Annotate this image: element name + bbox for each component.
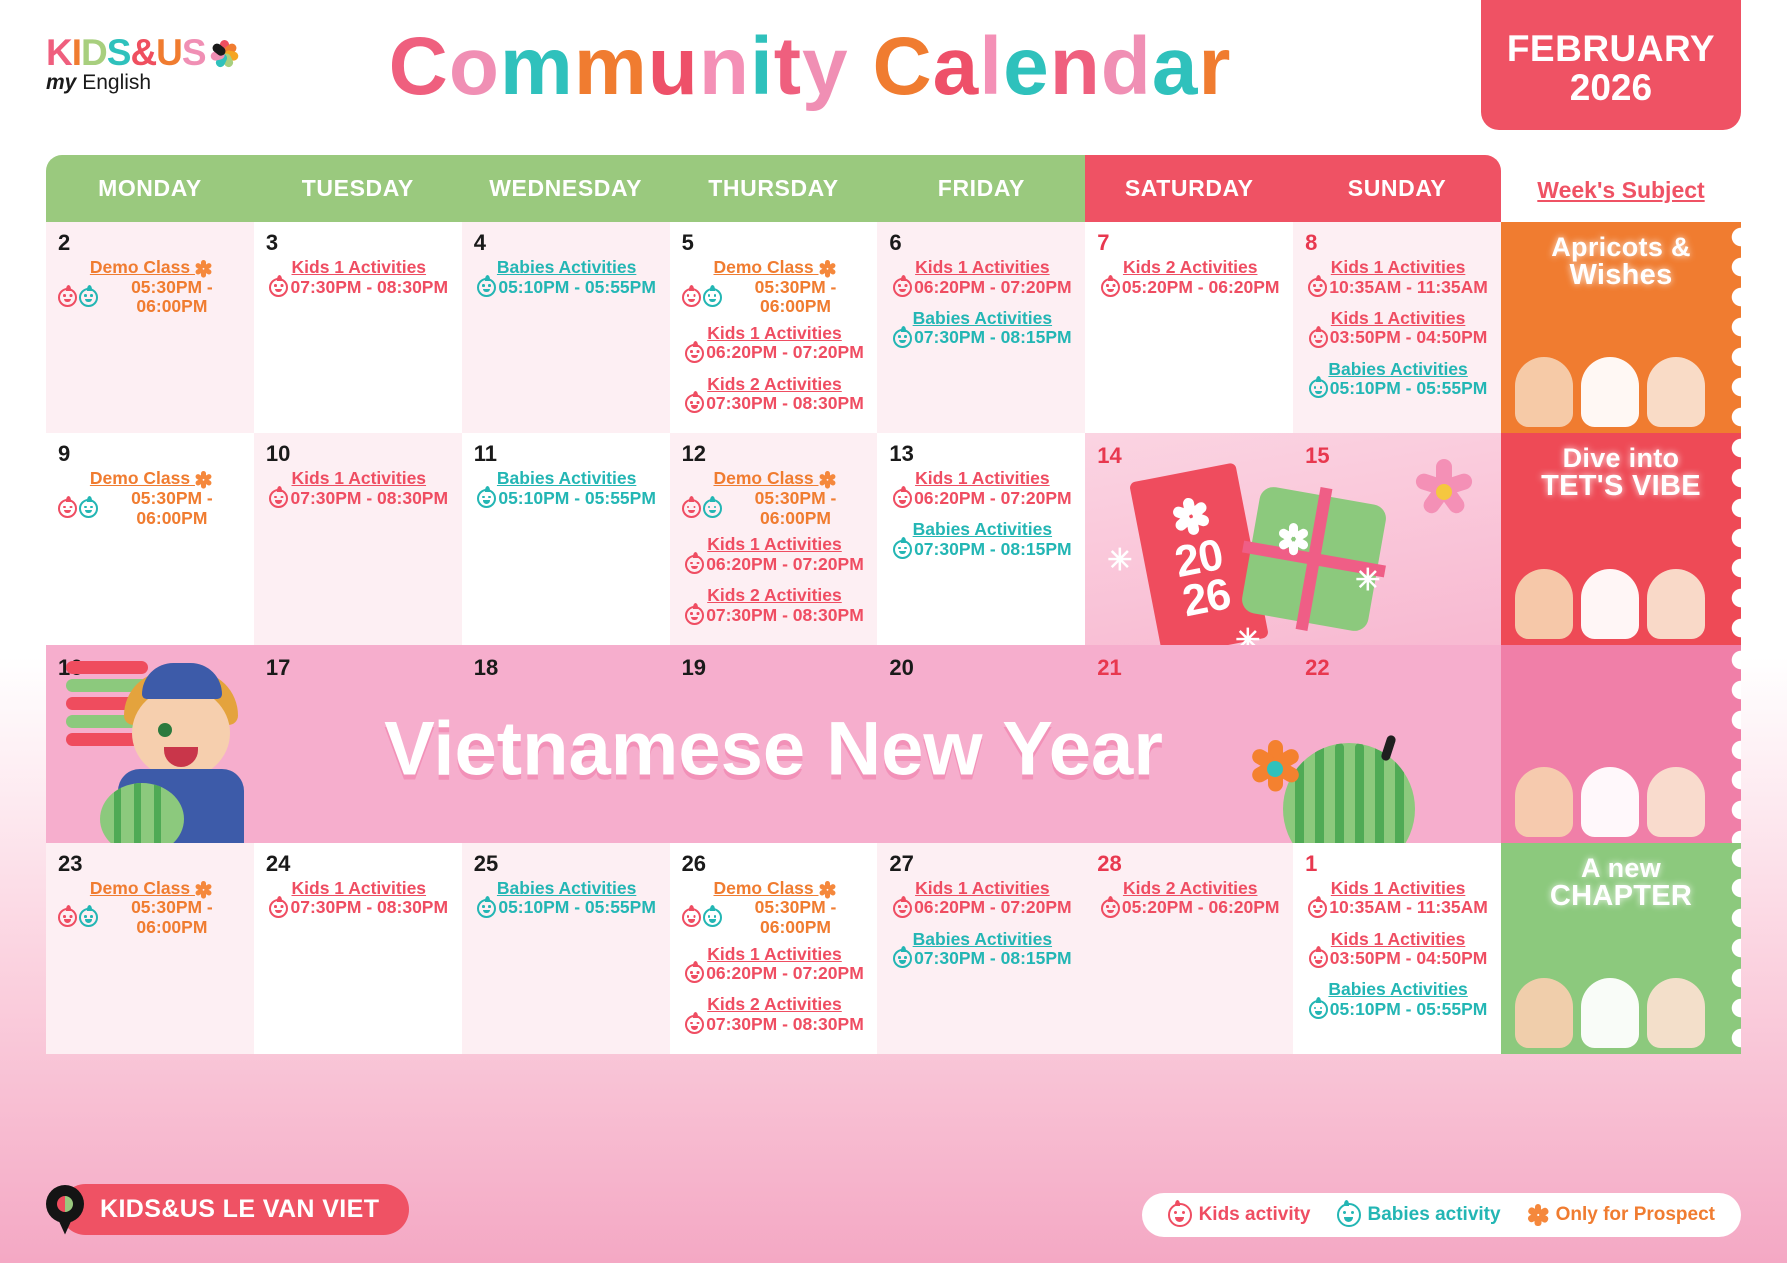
event-list: Kids 1 Activities06:20PM - 07:20PMBabies… <box>889 258 1075 353</box>
calendar-day-cell[interactable]: 12Demo Class 05:30PM - 06:00PMKids 1 Act… <box>670 433 878 644</box>
event-time-label: 07:30PM - 08:30PM <box>290 489 448 509</box>
kids-face-icon <box>685 394 704 413</box>
event-list: Kids 1 Activities07:30PM - 08:30PM <box>266 879 452 923</box>
event-item[interactable]: Kids 1 Activities07:30PM - 08:30PM <box>266 258 452 302</box>
event-name: Kids 1 Activities <box>682 945 868 965</box>
day-number: 1 <box>1305 853 1491 875</box>
event-item[interactable]: Kids 2 Activities07:30PM - 08:30PM <box>682 586 868 630</box>
character-illustration <box>1515 569 1573 639</box>
day-header-friday: FRIDAY <box>877 155 1085 222</box>
baby-face-icon <box>893 540 912 559</box>
baby-face-icon <box>79 499 98 518</box>
event-item[interactable]: Babies Activities05:10PM - 05:55PM <box>1305 360 1491 404</box>
character-illustration <box>1515 978 1573 1048</box>
calendar-day-cell[interactable]: 7Kids 2 Activities05:20PM - 06:20PM <box>1085 222 1293 433</box>
day-header-tuesday: TUESDAY <box>254 155 462 222</box>
month-label: FEBRUARY <box>1507 30 1715 69</box>
event-item[interactable]: Demo Class 05:30PM - 06:00PM <box>682 258 868 317</box>
event-name: Kids 1 Activities <box>266 258 452 278</box>
day-number: 10 <box>266 443 452 465</box>
event-item[interactable]: Demo Class 05:30PM - 06:00PM <box>58 258 244 317</box>
legend-item-babies: Babies activity <box>1337 1203 1501 1227</box>
kids-face-icon <box>269 278 288 297</box>
kids-face-icon <box>269 489 288 508</box>
event-item[interactable]: Kids 1 Activities06:20PM - 07:20PM <box>682 324 868 368</box>
kids-face-icon <box>1308 899 1327 918</box>
kids-face-icon <box>682 908 701 927</box>
event-time: 06:20PM - 07:20PM <box>893 278 1072 298</box>
calendar: MONDAYTUESDAYWEDNESDAYTHURSDAYFRIDAYSATU… <box>46 155 1741 1054</box>
week-subject-title: A newCHAPTER <box>1534 855 1708 911</box>
event-time: 05:10PM - 05:55PM <box>1309 1000 1488 1020</box>
day-number: 27 <box>889 853 1075 875</box>
title-letter: u <box>648 21 699 112</box>
day-number: 2 <box>58 232 244 254</box>
day-number: 6 <box>889 232 1075 254</box>
kids-face-icon <box>58 288 77 307</box>
event-item[interactable]: Demo Class 05:30PM - 06:00PM <box>58 879 244 938</box>
week-subject-line1: A new <box>1581 853 1661 883</box>
flower-asterisk-icon <box>1527 1204 1549 1226</box>
logo-letter: D <box>81 32 107 73</box>
event-list: Babies Activities05:10PM - 05:55PM <box>474 469 660 513</box>
event-list: Demo Class 05:30PM - 06:00PMKids 1 Activ… <box>682 469 868 629</box>
location-badge[interactable]: KIDS&US LE VAN VIET <box>46 1184 409 1235</box>
kids-face-icon <box>1309 329 1328 348</box>
kids-face-icon <box>682 499 701 518</box>
flower-asterisk-icon <box>819 881 836 898</box>
event-time: 05:10PM - 05:55PM <box>477 278 656 298</box>
brand-logo: KIDS&US my English <box>46 34 261 93</box>
day-number: 8 <box>1305 232 1491 254</box>
event-name: Kids 1 Activities <box>682 535 868 555</box>
week-subject-header: Week's Subject <box>1501 155 1741 222</box>
pink-blossom-icon <box>1409 457 1479 527</box>
logo-tagline-bold: my <box>46 71 76 94</box>
calendar-day-cell[interactable]: 8Kids 1 Activities10:35AM - 11:35AMKids … <box>1293 222 1501 433</box>
month-badge: FEBRUARY 2026 <box>1481 0 1741 130</box>
day-header-thursday: THURSDAY <box>670 155 878 222</box>
event-list: Kids 2 Activities05:20PM - 06:20PM <box>1097 258 1283 302</box>
event-time-label: 10:35AM - 11:35AM <box>1329 898 1488 918</box>
event-time-label: 05:30PM - 06:00PM <box>100 898 244 937</box>
event-list: Kids 2 Activities05:20PM - 06:20PM <box>1097 879 1283 923</box>
event-time: 06:20PM - 07:20PM <box>893 898 1072 918</box>
title-letter: t <box>774 21 802 112</box>
event-item[interactable]: Kids 1 Activities06:20PM - 07:20PM <box>682 945 868 989</box>
day-number: 7 <box>1097 232 1283 254</box>
event-name: Kids 1 Activities <box>1305 879 1491 899</box>
event-name: Babies Activities <box>889 930 1075 950</box>
kids-face-icon <box>893 489 912 508</box>
event-item[interactable]: Kids 1 Activities06:20PM - 07:20PM <box>889 258 1075 302</box>
event-item[interactable]: Kids 2 Activities05:20PM - 06:20PM <box>1097 879 1283 923</box>
event-item[interactable]: Babies Activities07:30PM - 08:15PM <box>889 930 1075 974</box>
event-item[interactable]: Demo Class 05:30PM - 06:00PM <box>682 879 868 938</box>
baby-face-icon <box>703 288 722 307</box>
event-item[interactable]: Kids 1 Activities07:30PM - 08:30PM <box>266 879 452 923</box>
event-time: 10:35AM - 11:35AM <box>1308 278 1488 298</box>
event-time-label: 05:30PM - 06:00PM <box>724 898 868 937</box>
kids-face-icon <box>58 908 77 927</box>
event-time-label: 05:10PM - 05:55PM <box>1330 1000 1488 1020</box>
sparkle-icon: ✳ <box>1107 543 1132 578</box>
title-letter: n <box>1050 21 1101 112</box>
event-name: Kids 1 Activities <box>889 879 1075 899</box>
title-letter: y <box>802 21 849 112</box>
event-item[interactable]: Kids 1 Activities07:30PM - 08:30PM <box>266 469 452 513</box>
week-subject-card: Apricots &Wishes <box>1501 222 1741 433</box>
calendar-day-cell[interactable]: 10Kids 1 Activities07:30PM - 08:30PM <box>254 433 462 644</box>
calendar-grid: MONDAYTUESDAYWEDNESDAYTHURSDAYFRIDAYSATU… <box>46 155 1741 1054</box>
title-letter: o <box>449 21 500 112</box>
event-item[interactable]: Kids 1 Activities03:50PM - 04:50PM <box>1305 930 1491 974</box>
day-number: 24 <box>266 853 452 875</box>
event-time-label: 07:30PM - 08:15PM <box>914 328 1072 348</box>
title-letter: m <box>574 21 648 112</box>
event-name: Kids 2 Activities <box>682 995 868 1015</box>
event-item[interactable]: Babies Activities05:10PM - 05:55PM <box>474 469 660 513</box>
logo-tagline-rest: English <box>82 71 151 94</box>
banh-chung-illustration <box>1240 485 1388 633</box>
week-subject-line1: Apricots & <box>1551 232 1691 262</box>
day-header-saturday: SATURDAY <box>1085 155 1293 222</box>
flower-asterisk-icon <box>195 881 212 898</box>
logo-letter: S <box>107 32 131 73</box>
location-label: KIDS&US LE VAN VIET <box>60 1184 409 1235</box>
title-letter: a <box>1152 21 1199 112</box>
event-name: Kids 1 Activities <box>889 469 1075 489</box>
calendar-day-cell[interactable]: 3Kids 1 Activities07:30PM - 08:30PM <box>254 222 462 433</box>
title-letter: C <box>389 21 449 112</box>
baby-face-icon <box>703 908 722 927</box>
event-time: 07:30PM - 08:30PM <box>685 606 864 626</box>
event-time-label: 06:20PM - 07:20PM <box>914 489 1072 509</box>
event-time-label: 05:30PM - 06:00PM <box>100 278 244 317</box>
event-name: Kids 1 Activities <box>1305 309 1491 329</box>
title-letter: a <box>933 21 980 112</box>
legend-label: Babies activity <box>1368 1204 1501 1226</box>
logo-wordmark: KIDS&US <box>46 34 261 71</box>
event-time-label: 05:30PM - 06:00PM <box>724 489 868 528</box>
title-letter: C <box>872 21 932 112</box>
title-letter <box>849 21 873 112</box>
event-name: Demo Class <box>682 469 868 489</box>
orange-flower-icon <box>1245 739 1305 799</box>
event-time-label: 05:10PM - 05:55PM <box>498 489 656 509</box>
event-item[interactable]: Babies Activities07:30PM - 08:15PM <box>889 309 1075 353</box>
calendar-day-cell[interactable]: 24Kids 1 Activities07:30PM - 08:30PM <box>254 843 462 1054</box>
kids-face-icon <box>1101 278 1120 297</box>
event-time-label: 06:20PM - 07:20PM <box>706 343 864 363</box>
event-time: 06:20PM - 07:20PM <box>685 964 864 984</box>
character-illustration <box>1647 978 1705 1048</box>
character-illustration <box>1581 357 1639 427</box>
event-time: 03:50PM - 04:50PM <box>1309 949 1488 969</box>
day-number: 5 <box>682 232 868 254</box>
scallop-edge <box>1724 843 1741 1054</box>
event-list: Demo Class 05:30PM - 06:00PM <box>58 879 244 938</box>
event-time-label: 05:20PM - 06:20PM <box>1122 278 1280 298</box>
event-time: 06:20PM - 07:20PM <box>685 555 864 575</box>
event-time: 03:50PM - 04:50PM <box>1309 328 1488 348</box>
page-header: KIDS&US my English Community Calendar FE… <box>0 0 1787 152</box>
event-name: Kids 1 Activities <box>266 879 452 899</box>
character-illustration <box>1581 569 1639 639</box>
day-number: 3 <box>266 232 452 254</box>
logo-letter: I <box>72 32 81 73</box>
baby-face-icon <box>1309 379 1328 398</box>
event-time: 05:30PM - 06:00PM <box>682 278 868 317</box>
event-time-label: 03:50PM - 04:50PM <box>1330 328 1488 348</box>
baby-face-icon <box>1309 1000 1328 1019</box>
white-flower-icon <box>1276 522 1310 556</box>
event-time: 05:20PM - 06:20PM <box>1101 898 1280 918</box>
event-time: 07:30PM - 08:30PM <box>685 1015 864 1035</box>
event-item[interactable]: Kids 2 Activities05:20PM - 06:20PM <box>1097 258 1283 302</box>
event-time-label: 06:20PM - 07:20PM <box>914 278 1072 298</box>
event-name: Kids 1 Activities <box>889 258 1075 278</box>
calendar-day-cell[interactable]: 25Babies Activities05:10PM - 05:55PM <box>462 843 670 1054</box>
event-time-label: 06:20PM - 07:20PM <box>706 964 864 984</box>
week-subject-card <box>1501 645 1741 843</box>
event-list: Demo Class 05:30PM - 06:00PMKids 1 Activ… <box>682 258 868 418</box>
event-item[interactable]: Kids 1 Activities06:20PM - 07:20PM <box>682 535 868 579</box>
event-name: Kids 1 Activities <box>1305 258 1491 278</box>
kids-face-icon <box>685 606 704 625</box>
week-subject-card: A newCHAPTER <box>1501 843 1741 1054</box>
event-name: Babies Activities <box>474 258 660 278</box>
event-time-label: 03:50PM - 04:50PM <box>1330 949 1488 969</box>
day-number: 12 <box>682 443 868 465</box>
year-label: 2026 <box>1507 69 1715 108</box>
event-name: Demo Class <box>58 879 244 899</box>
legend: Kids activityBabies activityOnly for Pro… <box>1142 1193 1741 1237</box>
event-time: 05:30PM - 06:00PM <box>58 489 244 528</box>
event-name: Kids 2 Activities <box>682 375 868 395</box>
event-item[interactable]: Kids 1 Activities10:35AM - 11:35AM <box>1305 879 1491 923</box>
day-number: 15 <box>1305 443 1329 469</box>
title-letter: i <box>750 21 774 112</box>
kids-face-icon <box>1101 899 1120 918</box>
event-time-label: 10:35AM - 11:35AM <box>1329 278 1488 298</box>
baby-face-icon <box>1337 1203 1361 1227</box>
map-pin-icon <box>46 1185 84 1235</box>
event-time-label: 07:30PM - 08:30PM <box>706 1015 864 1035</box>
event-name: Babies Activities <box>474 469 660 489</box>
event-item[interactable]: Babies Activities05:10PM - 05:55PM <box>474 879 660 923</box>
day-number: 28 <box>1097 853 1283 875</box>
event-item[interactable]: Kids 1 Activities06:20PM - 07:20PM <box>889 469 1075 513</box>
event-time: 07:30PM - 08:30PM <box>269 489 448 509</box>
event-item[interactable]: Babies Activities05:10PM - 05:55PM <box>1305 980 1491 1024</box>
calendar-day-cell[interactable]: 28Kids 2 Activities05:20PM - 06:20PM <box>1085 843 1293 1054</box>
event-time-label: 07:30PM - 08:15PM <box>914 540 1072 560</box>
legend-item-kids: Kids activity <box>1168 1203 1311 1227</box>
logo-letter: S <box>182 32 206 73</box>
week-subject-title: Dive intoTET'S VIBE <box>1525 445 1717 501</box>
legend-item-prospect: Only for Prospect <box>1527 1204 1715 1226</box>
event-list: Demo Class 05:30PM - 06:00PM <box>58 258 244 317</box>
event-time: 05:30PM - 06:00PM <box>58 278 244 317</box>
logo-letter: K <box>46 32 72 73</box>
calendar-day-cell[interactable]: 4Babies Activities05:10PM - 05:55PM <box>462 222 670 433</box>
event-name: Demo Class <box>682 879 868 899</box>
event-time-label: 07:30PM - 08:30PM <box>706 394 864 414</box>
event-time-label: 07:30PM - 08:30PM <box>706 606 864 626</box>
event-time: 05:30PM - 06:00PM <box>682 898 868 937</box>
event-time: 05:30PM - 06:00PM <box>682 489 868 528</box>
week-subject-card: Dive intoTET'S VIBE <box>1501 433 1741 644</box>
event-item[interactable]: Kids 1 Activities10:35AM - 11:35AM <box>1305 258 1491 302</box>
event-time: 05:10PM - 05:55PM <box>1309 379 1488 399</box>
event-time-label: 05:10PM - 05:55PM <box>498 278 656 298</box>
event-name: Kids 1 Activities <box>682 324 868 344</box>
event-time-label: 05:20PM - 06:20PM <box>1122 898 1280 918</box>
event-time: 10:35AM - 11:35AM <box>1308 898 1488 918</box>
event-item[interactable]: Demo Class 05:30PM - 06:00PM <box>682 469 868 528</box>
event-list: Kids 1 Activities06:20PM - 07:20PMBabies… <box>889 879 1075 974</box>
event-item[interactable]: Babies Activities05:10PM - 05:55PM <box>474 258 660 302</box>
event-list: Kids 1 Activities06:20PM - 07:20PMBabies… <box>889 469 1075 564</box>
event-time-label: 05:10PM - 05:55PM <box>498 898 656 918</box>
day-number: 25 <box>474 853 660 875</box>
calendar-day-cell[interactable]: 2Demo Class 05:30PM - 06:00PM <box>46 222 254 433</box>
day-number: 23 <box>58 853 244 875</box>
kids-face-icon <box>1168 1203 1192 1227</box>
event-time-label: 05:30PM - 06:00PM <box>100 489 244 528</box>
flower-asterisk-icon <box>819 471 836 488</box>
title-letter: m <box>500 21 574 112</box>
baby-face-icon <box>477 489 496 508</box>
character-illustration <box>1581 978 1639 1048</box>
event-list: Kids 1 Activities07:30PM - 08:30PM <box>266 469 452 513</box>
event-name: Babies Activities <box>1305 980 1491 1000</box>
event-item[interactable]: Babies Activities07:30PM - 08:15PM <box>889 520 1075 564</box>
character-illustration <box>1647 569 1705 639</box>
event-list: Kids 1 Activities10:35AM - 11:35AMKids 1… <box>1305 258 1491 403</box>
kids-face-icon <box>685 344 704 363</box>
event-time: 05:30PM - 06:00PM <box>58 898 244 937</box>
logo-letter: & <box>130 32 156 73</box>
character-illustration <box>1515 767 1573 837</box>
event-item[interactable]: Kids 1 Activities06:20PM - 07:20PM <box>889 879 1075 923</box>
event-time: 07:30PM - 08:30PM <box>269 278 448 298</box>
kids-face-icon <box>893 278 912 297</box>
logo-letter: U <box>156 32 182 73</box>
page-title: Community Calendar <box>300 24 1320 110</box>
week-subject-line1: Dive into <box>1563 443 1680 473</box>
event-name: Babies Activities <box>889 520 1075 540</box>
event-time-label: 05:10PM - 05:55PM <box>1330 379 1488 399</box>
event-list: Babies Activities05:10PM - 05:55PM <box>474 258 660 302</box>
legend-label: Kids activity <box>1199 1204 1311 1226</box>
legend-label: Only for Prospect <box>1556 1204 1715 1226</box>
day-number: 13 <box>889 443 1075 465</box>
event-list: Demo Class 05:30PM - 06:00PMKids 1 Activ… <box>682 879 868 1039</box>
calendar-day-cell[interactable]: 9Demo Class 05:30PM - 06:00PM <box>46 433 254 644</box>
scallop-edge <box>1724 645 1741 843</box>
character-illustration <box>1581 767 1639 837</box>
scallop-edge <box>1724 433 1741 644</box>
event-list: Kids 1 Activities07:30PM - 08:30PM <box>266 258 452 302</box>
character-illustration <box>1647 357 1705 427</box>
event-item[interactable]: Kids 1 Activities03:50PM - 04:50PM <box>1305 309 1491 353</box>
vietnamese-new-year-banner: 16171819202122Vietnamese New Year <box>46 645 1501 843</box>
event-name: Kids 2 Activities <box>1097 258 1283 278</box>
day-number: 9 <box>58 443 244 465</box>
baby-face-icon <box>79 908 98 927</box>
calendar-day-cell[interactable]: 26Demo Class 05:30PM - 06:00PMKids 1 Act… <box>670 843 878 1054</box>
day-number: 4 <box>474 232 660 254</box>
event-time-label: 06:20PM - 07:20PM <box>706 555 864 575</box>
event-time-label: 06:20PM - 07:20PM <box>914 898 1072 918</box>
sparkle-icon: ✳ <box>1355 563 1380 598</box>
event-time-label: 07:30PM - 08:30PM <box>290 278 448 298</box>
event-list: Demo Class 05:30PM - 06:00PM <box>58 469 244 528</box>
event-time: 06:20PM - 07:20PM <box>685 343 864 363</box>
calendar-day-cell[interactable]: 13Kids 1 Activities06:20PM - 07:20PMBabi… <box>877 433 1085 644</box>
day-number: 11 <box>474 443 660 465</box>
week-subject-title: Apricots &Wishes <box>1535 234 1707 290</box>
day-number: 14 <box>1097 443 1121 469</box>
calendar-day-cell[interactable]: 27Kids 1 Activities06:20PM - 07:20PMBabi… <box>877 843 1085 1054</box>
event-time: 07:30PM - 08:15PM <box>893 328 1072 348</box>
event-list: Kids 1 Activities10:35AM - 11:35AMKids 1… <box>1305 879 1491 1024</box>
calendar-day-cell[interactable]: 11Babies Activities05:10PM - 05:55PM <box>462 433 670 644</box>
event-time-label: 07:30PM - 08:30PM <box>290 898 448 918</box>
event-time: 07:30PM - 08:15PM <box>893 949 1072 969</box>
kids-face-icon <box>58 499 77 518</box>
calendar-day-cell[interactable]: 6Kids 1 Activities06:20PM - 07:20PMBabie… <box>877 222 1085 433</box>
character-illustration <box>1515 357 1573 427</box>
baby-face-icon <box>477 278 496 297</box>
day-number: 26 <box>682 853 868 875</box>
sparkle-icon: ✳ <box>1235 623 1260 644</box>
calendar-day-cell[interactable]: 23Demo Class 05:30PM - 06:00PM <box>46 843 254 1054</box>
event-time: 07:30PM - 08:15PM <box>893 540 1072 560</box>
event-item[interactable]: Kids 2 Activities07:30PM - 08:30PM <box>682 995 868 1039</box>
event-time: 05:10PM - 05:55PM <box>477 489 656 509</box>
kids-face-icon <box>685 964 704 983</box>
kids-face-icon <box>1308 278 1327 297</box>
event-time: 05:20PM - 06:20PM <box>1101 278 1280 298</box>
event-name: Kids 2 Activities <box>1097 879 1283 899</box>
kids-face-icon <box>269 899 288 918</box>
event-name: Demo Class <box>58 258 244 278</box>
event-name: Babies Activities <box>1305 360 1491 380</box>
title-letter: d <box>1101 21 1152 112</box>
event-time: 07:30PM - 08:30PM <box>269 898 448 918</box>
tet-weekend-block: 14152026✳✳✳ <box>1085 433 1501 644</box>
baby-face-icon <box>477 899 496 918</box>
calendar-day-cell[interactable]: 5Demo Class 05:30PM - 06:00PMKids 1 Acti… <box>670 222 878 433</box>
title-letter: e <box>1003 21 1050 112</box>
title-letter: n <box>699 21 750 112</box>
event-name: Kids 2 Activities <box>682 586 868 606</box>
title-letter: l <box>979 21 1003 112</box>
event-item[interactable]: Demo Class 05:30PM - 06:00PM <box>58 469 244 528</box>
event-item[interactable]: Kids 2 Activities07:30PM - 08:30PM <box>682 375 868 419</box>
event-name: Babies Activities <box>474 879 660 899</box>
baby-face-icon <box>893 949 912 968</box>
kids-face-icon <box>893 899 912 918</box>
flower-asterisk-icon <box>195 471 212 488</box>
scallop-edge <box>1724 222 1741 433</box>
calendar-day-cell[interactable]: 1Kids 1 Activities10:35AM - 11:35AMKids … <box>1293 843 1501 1054</box>
event-time: 05:10PM - 05:55PM <box>477 898 656 918</box>
event-name: Babies Activities <box>889 309 1075 329</box>
